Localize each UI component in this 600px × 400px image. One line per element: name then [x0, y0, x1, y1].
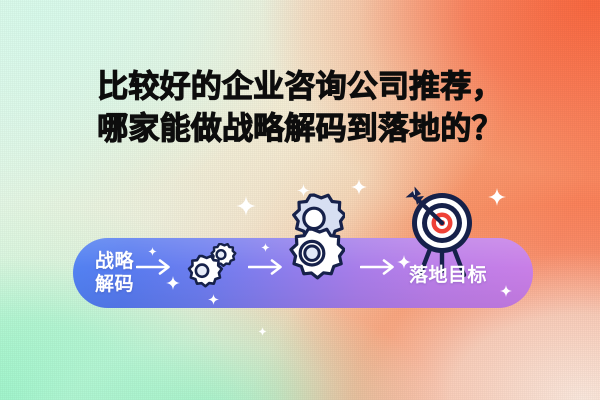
- stage-strategy-decoding-label: 战略 解码: [95, 250, 134, 296]
- flow-arrow-3-icon: [360, 258, 396, 276]
- page-title-line-2: 哪家能做战略解码到落地的？: [0, 108, 600, 150]
- flow-arrow-2-icon: [248, 258, 284, 276]
- sparkle-icon-3: [351, 179, 367, 195]
- sparkle-icon-12: [258, 327, 267, 336]
- sparkle-icon-4: [488, 188, 506, 206]
- poster-canvas: 比较好的企业咨询公司推荐， 哪家能做战略解码到落地的？: [0, 0, 600, 400]
- stage-strategy-line-2: 解码: [95, 273, 134, 296]
- page-title-line-1: 比较好的企业咨询公司推荐，: [0, 66, 600, 108]
- stage-strategy-line-1: 战略: [95, 250, 134, 273]
- gears-large-icon: [283, 190, 345, 290]
- sparkle-icon-1: [236, 196, 256, 216]
- flow-arrow-1-icon: [136, 258, 172, 276]
- page-title: 比较好的企业咨询公司推荐， 哪家能做战略解码到落地的？: [0, 66, 600, 150]
- stage-landing-goal-label: 落地目标: [409, 264, 487, 287]
- gears-small-icon: [183, 243, 241, 293]
